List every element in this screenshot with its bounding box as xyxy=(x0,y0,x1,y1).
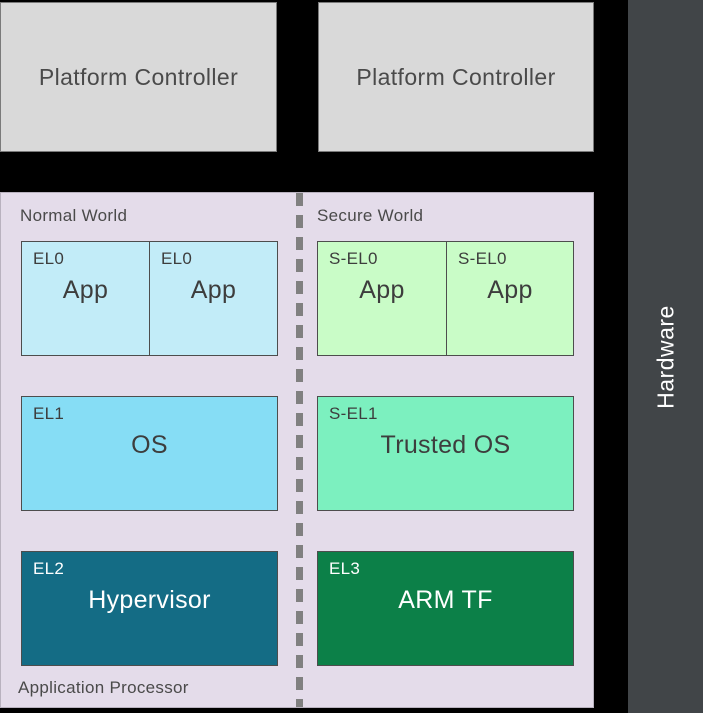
el3-title: ARM TF xyxy=(318,586,573,615)
el2-hypervisor-box: EL2 Hypervisor xyxy=(21,551,278,666)
s-el0-app-box-secure-2: S-EL0 App xyxy=(446,241,574,356)
normal-world-label: Normal World xyxy=(20,206,127,226)
el0-title-normal-2: App xyxy=(150,276,277,305)
s-el1-title: Trusted OS xyxy=(318,431,573,460)
el1-tag: EL1 xyxy=(33,404,64,424)
platform-controller-right-label: Platform Controller xyxy=(356,64,555,91)
el0-app-box-normal-1: EL0 App xyxy=(21,241,150,356)
platform-controller-left-label: Platform Controller xyxy=(39,64,238,91)
platform-controller-right: Platform Controller xyxy=(318,2,594,152)
application-processor-caption: Application Processor xyxy=(18,678,189,698)
s-el1-trusted-os-box: S-EL1 Trusted OS xyxy=(317,396,574,511)
el3-tag: EL3 xyxy=(329,559,360,579)
s-el1-tag: S-EL1 xyxy=(329,404,378,424)
s-el0-tag-secure-2: S-EL0 xyxy=(458,249,507,269)
el0-tag-normal-1: EL0 xyxy=(33,249,64,269)
el0-tag-normal-2: EL0 xyxy=(161,249,192,269)
el1-title: OS xyxy=(22,431,277,460)
el1-os-box: EL1 OS xyxy=(21,396,278,511)
el0-title-normal-1: App xyxy=(22,276,149,305)
platform-controller-left: Platform Controller xyxy=(0,2,277,152)
s-el0-title-secure-2: App xyxy=(447,276,573,305)
world-divider xyxy=(296,193,303,707)
secure-world-label: Secure World xyxy=(317,206,423,226)
architecture-diagram: Platform Controller Platform Controller … xyxy=(0,0,703,713)
s-el0-tag-secure-1: S-EL0 xyxy=(329,249,378,269)
el2-tag: EL2 xyxy=(33,559,64,579)
hardware-label: Hardware xyxy=(652,305,679,409)
el3-arm-tf-box: EL3 ARM TF xyxy=(317,551,574,666)
el0-app-box-normal-2: EL0 App xyxy=(149,241,278,356)
el2-title: Hypervisor xyxy=(22,586,277,615)
hardware-bar: Hardware xyxy=(628,0,703,713)
s-el0-app-box-secure-1: S-EL0 App xyxy=(317,241,447,356)
s-el0-title-secure-1: App xyxy=(318,276,446,305)
